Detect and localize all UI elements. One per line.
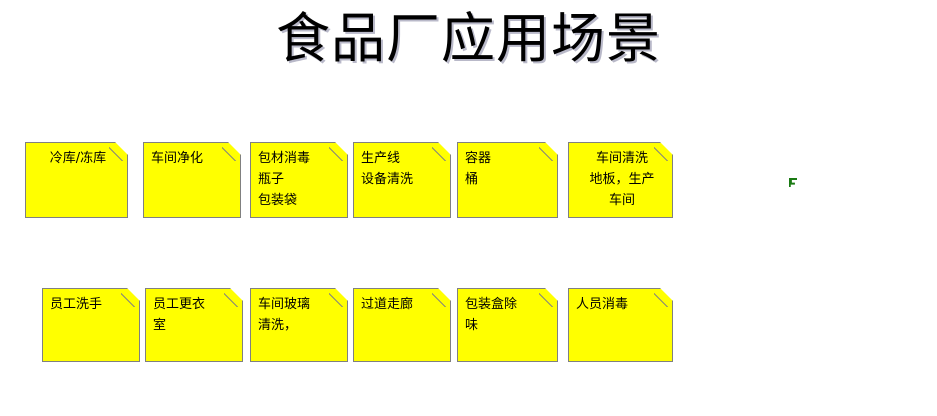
note-workshop-purification[interactable]: 车间净化 xyxy=(143,142,241,218)
note-label: 车间净化 xyxy=(151,148,236,169)
note-label: 冷库/冻库 xyxy=(33,148,123,169)
note-label: 生产线 设备清洗 xyxy=(361,148,446,190)
note-production-line-equipment-cleaning[interactable]: 生产线 设备清洗 xyxy=(353,142,451,218)
note-label: 车间玻璃 清洗， xyxy=(258,294,343,336)
note-staff-changing-room[interactable]: 员工更衣 室 xyxy=(145,288,243,362)
note-workshop-glass-cleaning[interactable]: 车间玻璃 清洗， xyxy=(250,288,348,362)
slide-canvas: 食品厂应用场景 冷库/冻库车间净化包材消毒 瓶子 包装袋生产线 设备清洗容器 桶… xyxy=(0,0,937,416)
note-containers-barrels[interactable]: 容器 桶 xyxy=(457,142,558,218)
note-packaging-box-deodorization[interactable]: 包装盒除 味 xyxy=(457,288,558,362)
note-label: 容器 桶 xyxy=(465,148,553,190)
note-label: 包装盒除 味 xyxy=(465,294,553,336)
note-personnel-disinfection[interactable]: 人员消毒 xyxy=(568,288,673,362)
note-label: 员工洗手 xyxy=(50,294,135,315)
note-corridor-aisle[interactable]: 过道走廊 xyxy=(353,288,451,362)
page-title: 食品厂应用场景 xyxy=(0,4,937,74)
note-label: 员工更衣 室 xyxy=(153,294,238,336)
note-staff-handwashing[interactable]: 员工洗手 xyxy=(42,288,140,362)
note-label: 车间清洗 地板，生产 车间 xyxy=(576,148,668,211)
note-packaging-material-disinfection[interactable]: 包材消毒 瓶子 包装袋 xyxy=(250,142,348,218)
note-label: 过道走廊 xyxy=(361,294,446,315)
green-flag-marker xyxy=(789,178,797,187)
note-workshop-washing-floor[interactable]: 车间清洗 地板，生产 车间 xyxy=(568,142,673,218)
note-label: 包材消毒 瓶子 包装袋 xyxy=(258,148,343,211)
note-label: 人员消毒 xyxy=(576,294,668,315)
note-cold-storage[interactable]: 冷库/冻库 xyxy=(25,142,128,218)
